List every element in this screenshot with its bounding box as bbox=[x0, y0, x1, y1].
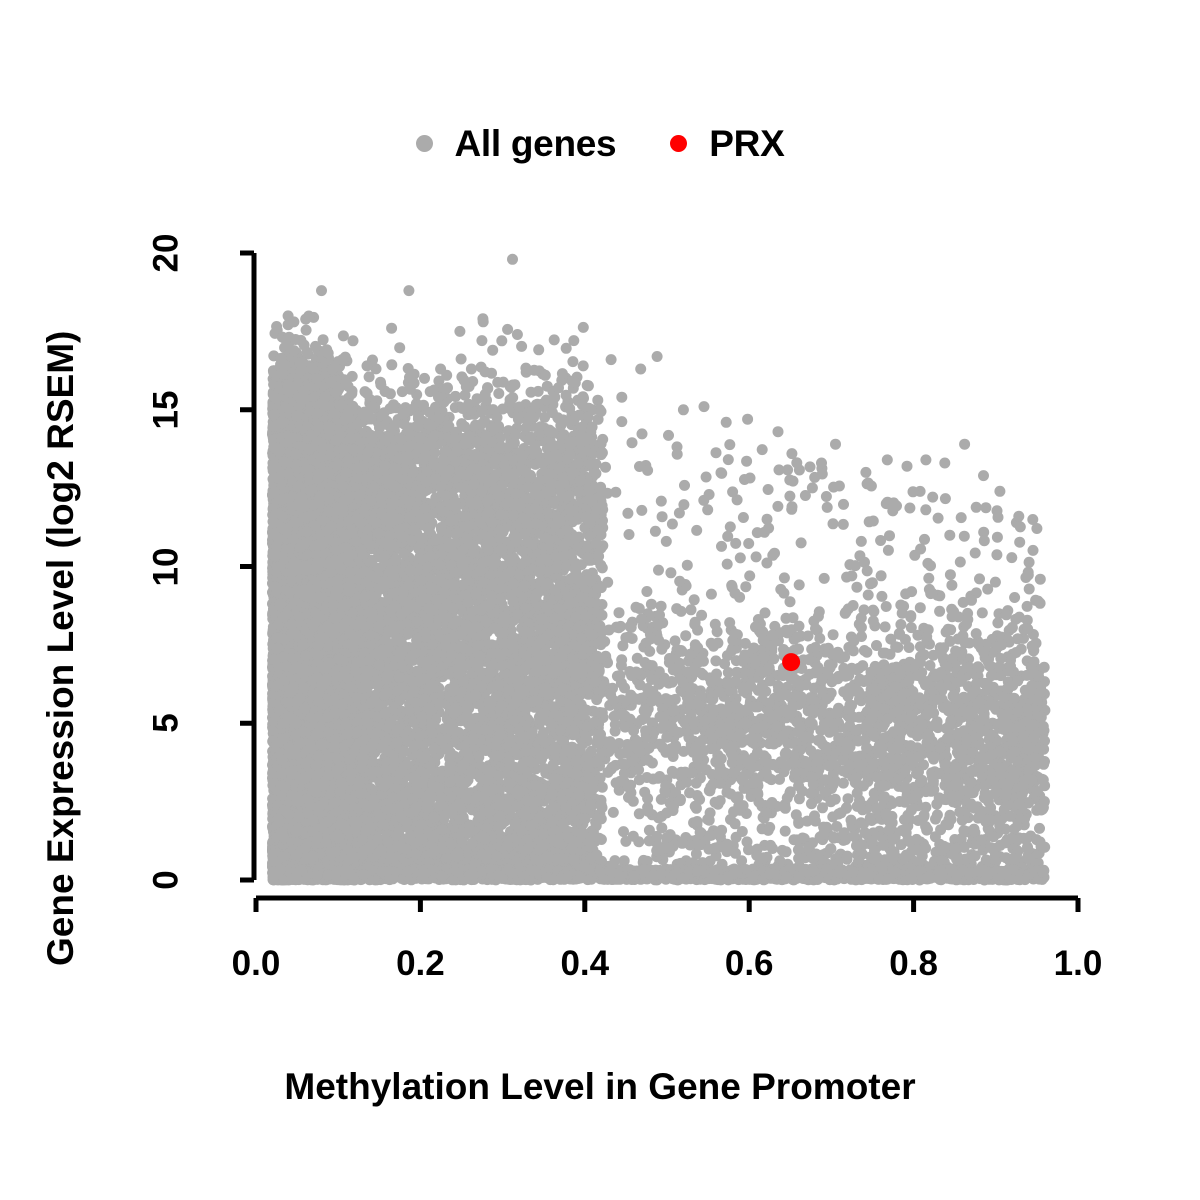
x-axis-title: Methylation Level in Gene Promoter bbox=[0, 1068, 1200, 1105]
y-tick-label: 10 bbox=[149, 547, 184, 586]
y-tick-label: 20 bbox=[149, 234, 184, 273]
plot-canvas bbox=[0, 0, 1200, 1200]
x-tick-label: 0.0 bbox=[232, 946, 281, 981]
x-tick-label: 0.6 bbox=[725, 946, 774, 981]
y-tick-label: 15 bbox=[149, 390, 184, 429]
x-tick-label: 1.0 bbox=[1054, 946, 1103, 981]
scatter-plot-figure: All genes PRX 0.00.20.40.60.81.0 0510152… bbox=[0, 0, 1200, 1200]
x-tick-label: 0.8 bbox=[889, 946, 938, 981]
x-tick-label: 0.2 bbox=[396, 946, 445, 981]
data-points-layer bbox=[267, 254, 1050, 886]
x-axis-line bbox=[256, 898, 1078, 912]
x-tick-label: 0.4 bbox=[560, 946, 609, 981]
y-axis-title: Gene Expression Level (log2 RSEM) bbox=[42, 331, 79, 966]
prx-data-point bbox=[782, 653, 800, 671]
y-tick-label: 5 bbox=[149, 714, 184, 733]
y-tick-label: 0 bbox=[149, 870, 184, 889]
y-axis-line bbox=[240, 253, 254, 880]
highlight-points-layer bbox=[782, 653, 800, 671]
